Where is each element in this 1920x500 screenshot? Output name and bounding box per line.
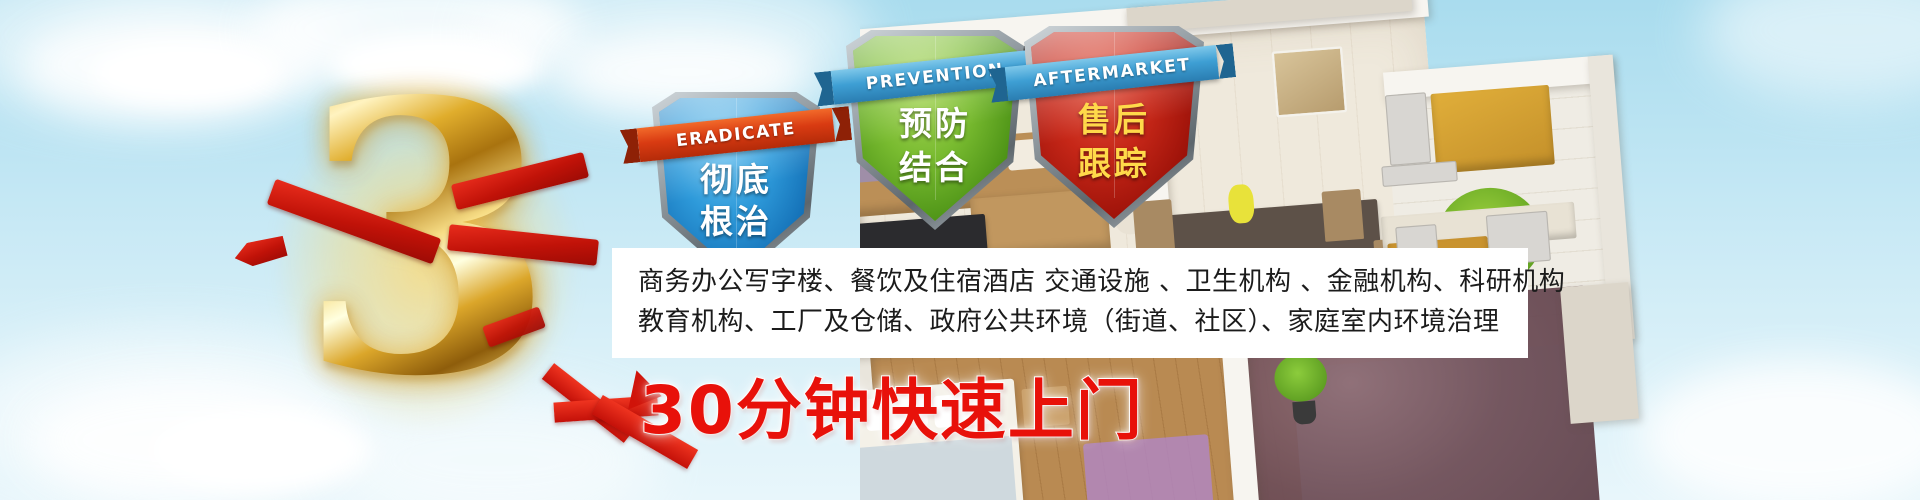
promo-banner: 3 ERADICATE 彻底 根治 PREVENTI [0, 0, 1920, 500]
shield-cn-line1: 预防 [846, 106, 1024, 142]
service-scope-line-1: 商务办公写字楼、餐饮及住宿酒店 交通设施 、卫生机构 、金融机构、科研机构 [638, 262, 1506, 302]
service-scope-panel: 商务办公写字楼、餐饮及住宿酒店 交通设施 、卫生机构 、金融机构、科研机构 教育… [612, 248, 1528, 358]
shield-cn-line1: 彻底 [652, 162, 820, 198]
shield-cn-line1: 售后 [1024, 102, 1204, 138]
shield-cn-line2: 根治 [652, 204, 820, 240]
shield-badge-aftermarket: AFTERMARKET 售后 跟踪 [1024, 26, 1204, 228]
shield-cn-line2: 跟踪 [1024, 146, 1204, 182]
shield-english-label: ERADICATE [675, 119, 797, 151]
headline-text: 30分钟快速上门 [640, 357, 1144, 453]
shield-cn-line2: 结合 [846, 150, 1024, 186]
shield-badge-prevention: PREVENTION 预防 结合 [846, 30, 1024, 230]
service-scope-line-2: 教育机构、工厂及仓储、政府公共环境（街道、社区）、家庭室内环境治理 [638, 302, 1506, 342]
